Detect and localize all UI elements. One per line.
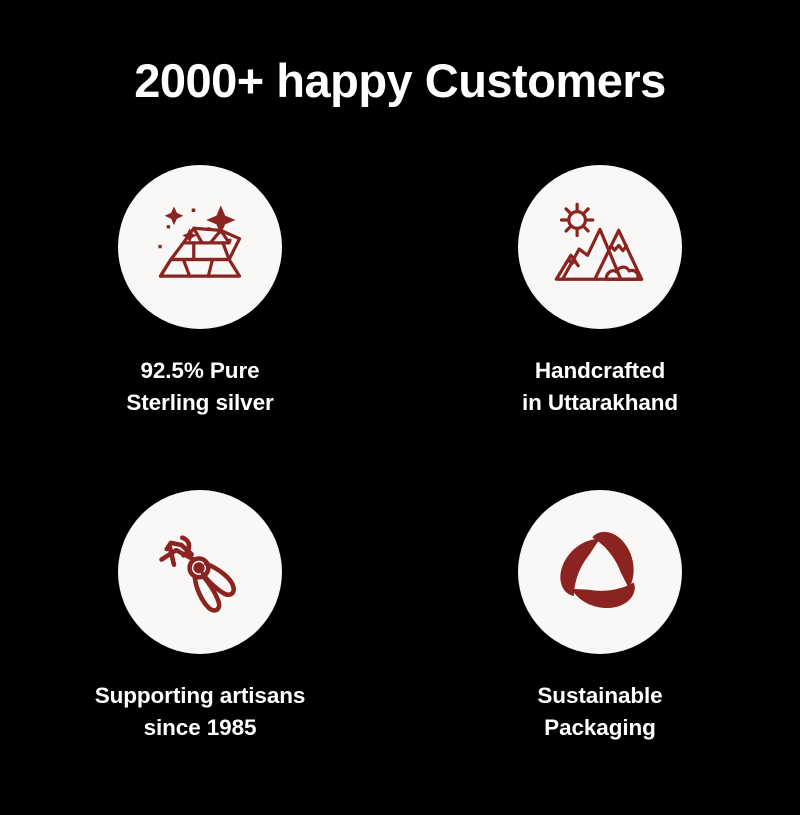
feature-item-artisans: Supporting artisans since 1985 (0, 490, 400, 815)
sustainable-leaves-icon (548, 520, 652, 624)
feature-label-sterling-silver: 92.5% Pure Sterling silver (126, 355, 273, 419)
page-title: 2000+ happy Customers (0, 56, 800, 105)
feature-label-handcrafted: Handcrafted in Uttarakhand (522, 355, 678, 419)
mountain-sun-icon (548, 195, 652, 299)
silver-bars-sparkle-icon (148, 195, 252, 299)
feature-label-line-2: Sterling silver (126, 387, 273, 419)
badge-circle-sterling-silver (118, 165, 282, 329)
jeweler-pliers-icon (148, 520, 252, 624)
badge-circle-sustainable (518, 490, 682, 654)
feature-item-sterling-silver: 92.5% Pure Sterling silver (0, 165, 400, 490)
feature-label-line-1: Sustainable (537, 680, 662, 712)
feature-item-sustainable: Sustainable Packaging (400, 490, 800, 815)
feature-label-sustainable: Sustainable Packaging (537, 680, 662, 744)
badge-circle-handcrafted (518, 165, 682, 329)
feature-label-line-1: 92.5% Pure (126, 355, 273, 387)
feature-label-line-2: in Uttarakhand (522, 387, 678, 419)
feature-label-artisans: Supporting artisans since 1985 (95, 680, 306, 744)
promo-banner: 2000+ happy Customers (0, 0, 800, 800)
feature-label-line-2: Packaging (537, 712, 662, 744)
feature-label-line-1: Handcrafted (522, 355, 678, 387)
feature-item-handcrafted: Handcrafted in Uttarakhand (400, 165, 800, 490)
feature-grid: 92.5% Pure Sterling silver (0, 165, 800, 815)
badge-circle-artisans (118, 490, 282, 654)
feature-label-line-1: Supporting artisans (95, 680, 306, 712)
feature-label-line-2: since 1985 (95, 712, 306, 744)
